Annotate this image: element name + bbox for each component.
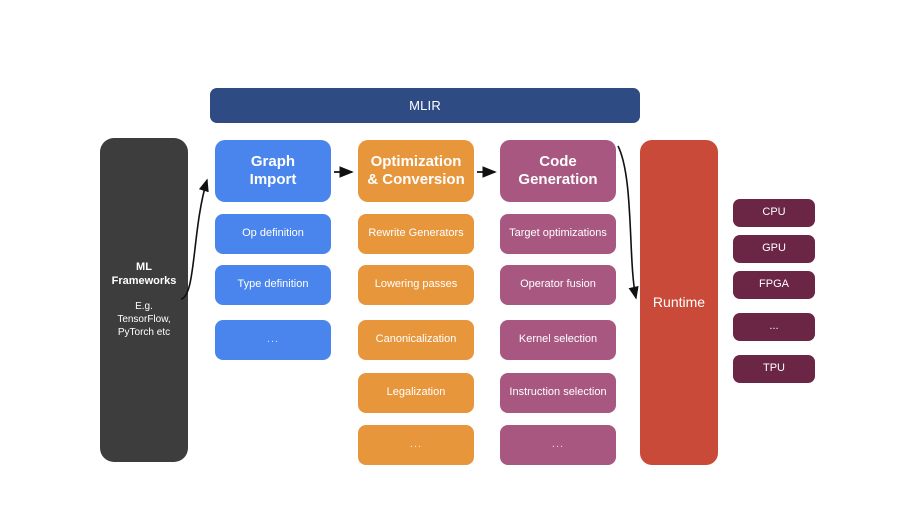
hardware-target-tpu-label: TPU	[763, 362, 785, 375]
item-codegen-more-label: ...	[552, 438, 564, 451]
runtime-label: Runtime	[653, 294, 705, 311]
mlir-banner-label: MLIR	[409, 98, 441, 114]
hardware-target-fpga-label: FPGA	[759, 278, 789, 291]
item-lowering-passes-label: Lowering passes	[375, 278, 458, 291]
item-type-definition[interactable]: Type definition	[215, 265, 331, 305]
stage-codegen-title-line2: Generation	[518, 171, 597, 189]
ml-frameworks-title-line1: ML	[112, 261, 177, 275]
stage-code-generation[interactable]: Code Generation	[500, 140, 616, 202]
item-type-definition-label: Type definition	[238, 278, 309, 291]
hardware-target-cpu[interactable]: CPU	[733, 199, 815, 227]
item-kernel-selection-label: Kernel selection	[519, 333, 597, 346]
diagram-canvas: MLIR ML Frameworks E.g. TensorFlow, PyTo…	[0, 0, 900, 505]
hardware-target-more[interactable]: ...	[733, 313, 815, 341]
ml-frameworks-subtitle-line1: E.g.	[117, 300, 170, 313]
hardware-target-more-label: ...	[769, 320, 778, 333]
stage-graph-import-title-line2: Import	[250, 171, 297, 189]
hardware-target-tpu[interactable]: TPU	[733, 355, 815, 383]
item-target-optimizations[interactable]: Target optimizations	[500, 214, 616, 254]
item-legalization-label: Legalization	[387, 386, 446, 399]
item-instruction-selection-label: Instruction selection	[509, 386, 606, 399]
item-codegen-more[interactable]: ...	[500, 425, 616, 465]
item-canonicalization[interactable]: Canonicalization	[358, 320, 474, 360]
ml-frameworks-title-line2: Frameworks	[112, 275, 177, 289]
item-kernel-selection[interactable]: Kernel selection	[500, 320, 616, 360]
hardware-target-gpu[interactable]: GPU	[733, 235, 815, 263]
item-operator-fusion[interactable]: Operator fusion	[500, 265, 616, 305]
item-target-optimizations-label: Target optimizations	[509, 227, 607, 240]
item-instruction-selection[interactable]: Instruction selection	[500, 373, 616, 413]
ml-frameworks-panel: ML Frameworks E.g. TensorFlow, PyTorch e…	[100, 138, 188, 462]
ml-frameworks-subtitle-line3: PyTorch etc	[117, 326, 170, 339]
ml-frameworks-subtitle-line2: TensorFlow,	[117, 313, 170, 326]
ml-frameworks-title: ML Frameworks	[112, 261, 177, 289]
item-rewrite-generators-label: Rewrite Generators	[368, 227, 463, 240]
stage-codegen-title-line1: Code	[518, 153, 597, 171]
item-legalization[interactable]: Legalization	[358, 373, 474, 413]
item-operator-fusion-label: Operator fusion	[520, 278, 596, 291]
item-canonicalization-label: Canonicalization	[376, 333, 457, 346]
hardware-target-gpu-label: GPU	[762, 242, 786, 255]
item-optimization-more[interactable]: ...	[358, 425, 474, 465]
stage-graph-import[interactable]: Graph Import	[215, 140, 331, 202]
item-graph-import-more-label: ...	[267, 333, 279, 346]
stage-graph-import-title-line1: Graph	[250, 153, 297, 171]
item-optimization-more-label: ...	[410, 438, 422, 451]
stage-optimization-conversion[interactable]: Optimization & Conversion	[358, 140, 474, 202]
stage-optimization-title-line2: & Conversion	[367, 171, 465, 189]
ml-frameworks-subtitle: E.g. TensorFlow, PyTorch etc	[117, 300, 170, 339]
arrow-code-generation-to-runtime	[618, 146, 636, 298]
hardware-target-cpu-label: CPU	[762, 206, 785, 219]
item-op-definition-label: Op definition	[242, 227, 304, 240]
item-lowering-passes[interactable]: Lowering passes	[358, 265, 474, 305]
mlir-banner: MLIR	[210, 88, 640, 123]
item-rewrite-generators[interactable]: Rewrite Generators	[358, 214, 474, 254]
hardware-target-fpga[interactable]: FPGA	[733, 271, 815, 299]
runtime-panel[interactable]: Runtime	[640, 140, 718, 465]
item-graph-import-more[interactable]: ...	[215, 320, 331, 360]
item-op-definition[interactable]: Op definition	[215, 214, 331, 254]
stage-optimization-title-line1: Optimization	[367, 153, 465, 171]
